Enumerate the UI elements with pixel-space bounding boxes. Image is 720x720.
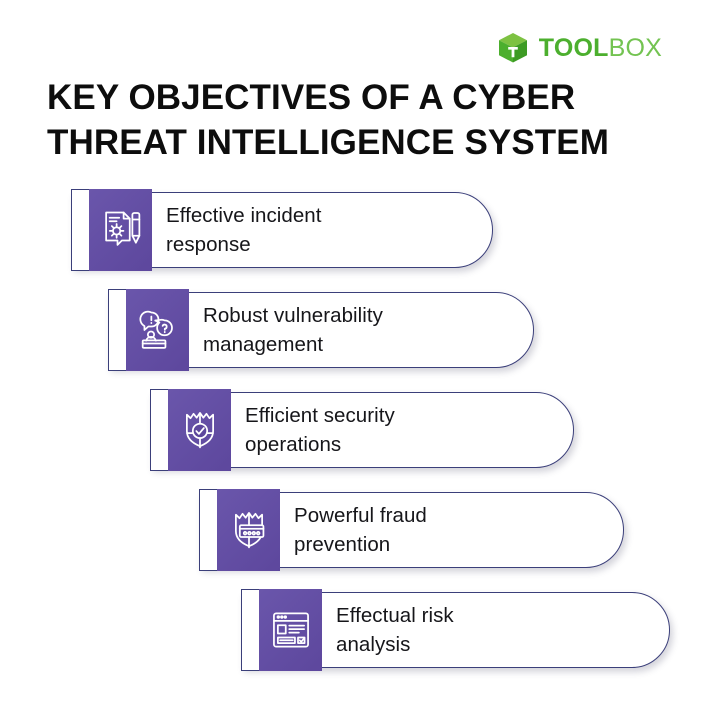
- page-title-line-1: KEY OBJECTIVES OF A CYBER: [47, 76, 667, 121]
- green-cube-logo-icon: [496, 31, 530, 65]
- objective-icon-block: [126, 289, 189, 371]
- objective-label-line-2: response: [166, 230, 322, 259]
- objective-pill-sliver: [199, 489, 217, 571]
- objective-pill-sliver: [108, 289, 126, 371]
- objective-icon-block: [217, 489, 280, 571]
- browser-form-checkbox-icon: [270, 609, 312, 651]
- objective-label-line-1: Efficient security: [245, 401, 395, 430]
- objective-label: Effective incident response: [166, 192, 322, 268]
- objective-label-line-2: management: [203, 330, 383, 359]
- objective-label: Effectual risk analysis: [336, 592, 454, 668]
- page-title-line-2: THREAT INTELLIGENCE SYSTEM: [47, 121, 667, 166]
- objective-pill-sliver: [241, 589, 259, 671]
- objective-label-line-2: operations: [245, 430, 395, 459]
- objective-icon-block: [89, 189, 152, 271]
- objective-row: Efficient security operations: [0, 392, 720, 468]
- objectives-list: Effective incident response: [0, 192, 720, 692]
- infographic-canvas: TOOLBOX KEY OBJECTIVES OF A CYBER THREAT…: [0, 0, 720, 720]
- objective-pill-sliver: [71, 189, 89, 271]
- objective-label-line-2: prevention: [294, 530, 427, 559]
- objective-label: Efficient security operations: [245, 392, 395, 468]
- objective-label-line-2: analysis: [336, 630, 454, 659]
- brand-name: TOOLBOX: [539, 36, 662, 61]
- objective-row: Effectual risk analysis: [0, 592, 720, 668]
- objective-row: Effective incident response: [0, 192, 720, 268]
- objective-label-line-1: Powerful fraud: [294, 501, 427, 530]
- shield-credit-card-icon: [228, 509, 270, 551]
- objective-label-line-1: Effective incident: [166, 201, 322, 230]
- objective-icon-block: [259, 589, 322, 671]
- person-question-bubbles-icon: [137, 309, 179, 351]
- objective-label: Powerful fraud prevention: [294, 492, 427, 568]
- document-gear-pen-icon: [100, 209, 142, 251]
- objective-label-line-1: Effectual risk: [336, 601, 454, 630]
- objective-icon-block: [168, 389, 231, 471]
- objective-pill-sliver: [150, 389, 168, 471]
- page-title: KEY OBJECTIVES OF A CYBER THREAT INTELLI…: [47, 76, 667, 166]
- objective-row: Robust vulnerability management: [0, 292, 720, 368]
- shield-check-icon: [179, 409, 221, 451]
- brand-name-light: BOX: [609, 34, 662, 62]
- objective-label: Robust vulnerability management: [203, 292, 383, 368]
- objective-row: Powerful fraud prevention: [0, 492, 720, 568]
- brand-name-bold: TOOL: [539, 34, 609, 62]
- brand-logo: TOOLBOX: [496, 31, 662, 65]
- objective-label-line-1: Robust vulnerability: [203, 301, 383, 330]
